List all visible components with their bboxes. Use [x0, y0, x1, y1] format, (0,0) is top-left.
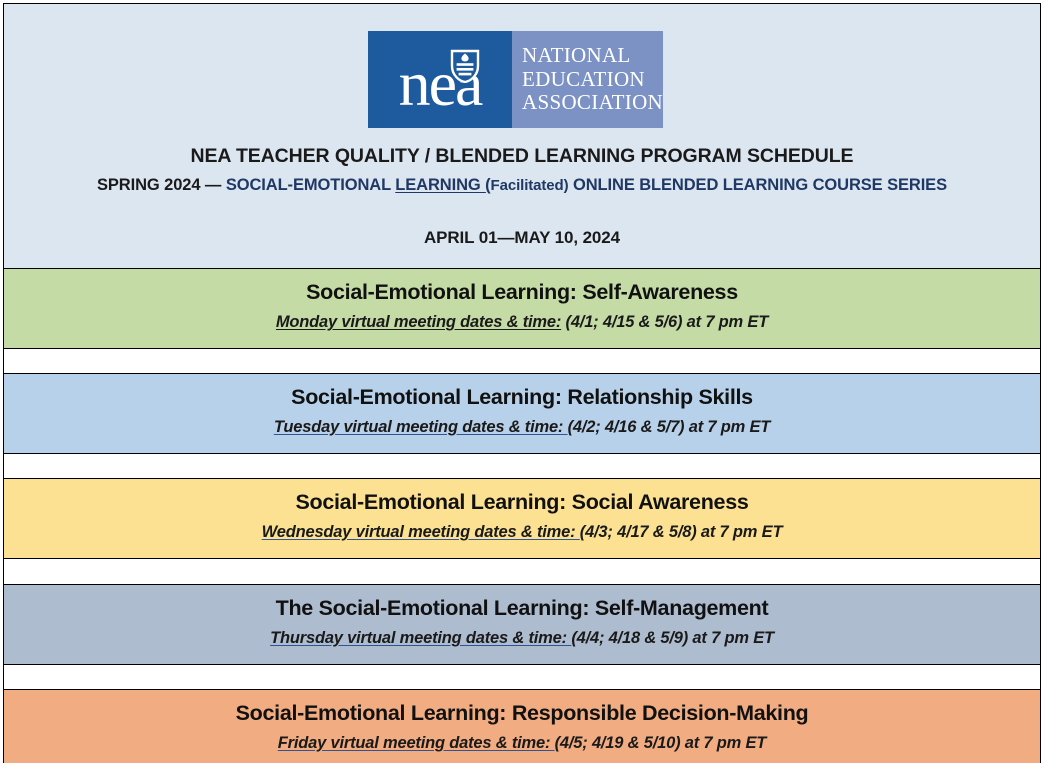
subtitle-course-prefix: SOCIAL-EMOTIONAL: [226, 176, 395, 194]
spacer-row: [3, 454, 1041, 479]
course-meeting-dates: (4/1; 4/15 & 5/6) at 7 pm ET: [561, 313, 768, 331]
program-title: NEA TEACHER QUALITY / BLENDED LEARNING P…: [4, 145, 1040, 168]
course-meeting-dates: (4/3; 4/17 & 5/8) at 7 pm ET: [580, 523, 783, 541]
course-meeting-label: Thursday virtual meeting dates & time:: [270, 629, 571, 647]
course-row: Social-Emotional Learning: Responsible D…: [3, 690, 1041, 763]
nea-logo-line-education: EDUCATION: [522, 68, 645, 92]
program-date-range: APRIL 01—MAY 10, 2024: [4, 228, 1040, 248]
nea-logo-line-association: ASSOCIATION: [522, 91, 663, 115]
course-meeting-label: Wednesday virtual meeting dates & time:: [262, 523, 580, 541]
course-meeting-dates: (4/2; 4/16 & 5/7) at 7 pm ET: [568, 418, 771, 436]
program-subtitle: SPRING 2024 — SOCIAL-EMOTIONAL LEARNING …: [4, 176, 1040, 195]
schedule-document: nea NATIONAL EDUCATION ASSOCIATION NEA T…: [0, 0, 1044, 763]
course-meeting-dates: (4/5; 4/19 & 5/10) at 7 pm ET: [555, 734, 767, 752]
spacer-row: [3, 349, 1041, 374]
document-header: nea NATIONAL EDUCATION ASSOCIATION NEA T…: [3, 3, 1041, 269]
course-row: Social-Emotional Learning: Relationship …: [3, 374, 1041, 454]
schedule-table: nea NATIONAL EDUCATION ASSOCIATION NEA T…: [3, 3, 1041, 763]
course-title: Social-Emotional Learning: Social Awaren…: [4, 490, 1040, 515]
course-meeting-dates: (4/4; 4/18 & 5/9) at 7 pm ET: [571, 629, 774, 647]
course-meeting-info: Friday virtual meeting dates & time: (4/…: [4, 734, 1040, 753]
spacer-row: [3, 665, 1041, 690]
subtitle-term: SPRING 2024 —: [97, 176, 226, 194]
nea-logo-text-panel: NATIONAL EDUCATION ASSOCIATION: [512, 31, 663, 128]
course-meeting-label: Tuesday virtual meeting dates & time:: [274, 418, 568, 436]
course-meeting-label: Friday virtual meeting dates & time:: [278, 734, 555, 752]
subtitle-course-suffix: ONLINE BLENDED LEARNING COURSE SERIES: [569, 176, 948, 194]
course-title: Social-Emotional Learning: Responsible D…: [4, 701, 1040, 726]
nea-wordmark: nea: [399, 52, 482, 116]
spacer-row: [3, 559, 1041, 585]
course-title: Social-Emotional Learning: Self-Awarenes…: [4, 280, 1040, 305]
subtitle-learning-underlined: LEARNING: [395, 176, 485, 194]
course-meeting-label: Monday virtual meeting dates & time:: [276, 313, 561, 331]
course-meeting-info: Monday virtual meeting dates & time: (4/…: [4, 313, 1040, 332]
course-meeting-info: Thursday virtual meeting dates & time: (…: [4, 629, 1040, 648]
course-title: The Social-Emotional Learning: Self-Mana…: [4, 596, 1040, 621]
nea-logo: nea NATIONAL EDUCATION ASSOCIATION: [368, 31, 663, 128]
course-meeting-info: Tuesday virtual meeting dates & time: (4…: [4, 418, 1040, 437]
nea-logo-line-national: NATIONAL: [522, 44, 631, 68]
course-row: Social-Emotional Learning: Social Awaren…: [3, 479, 1041, 559]
course-title: Social-Emotional Learning: Relationship …: [4, 385, 1040, 410]
course-row: Social-Emotional Learning: Self-Awarenes…: [3, 269, 1041, 349]
course-row: The Social-Emotional Learning: Self-Mana…: [3, 585, 1041, 665]
nea-logo-mark: nea: [368, 31, 512, 128]
subtitle-facilitated: Facilitated): [491, 177, 569, 194]
course-meeting-info: Wednesday virtual meeting dates & time: …: [4, 523, 1040, 542]
